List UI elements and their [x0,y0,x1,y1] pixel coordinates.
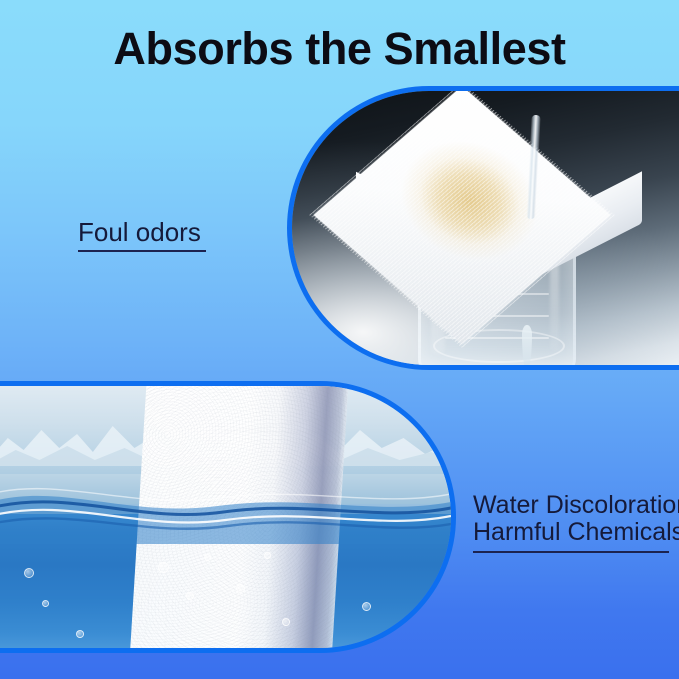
page-title: Absorbs the Smallest [0,24,679,74]
water-surface-waves [0,472,451,544]
bubble [186,592,194,600]
bubble [204,554,211,561]
photo-backdrop-water-scene [0,386,451,648]
filter-pad-block [326,117,652,293]
bubble [362,602,371,611]
filter-pad-pouring-photo-panel [287,86,679,370]
callout-water-discoloration: Water Discoloration Harmful Chemicals [473,492,679,553]
bubble [42,600,49,607]
callout-foul-odors: Foul odors [78,218,206,252]
bubble [264,552,271,559]
drip-droplet [521,367,535,370]
bubble [236,584,245,593]
callout-foul-odors-line-1: Foul odors [78,217,201,247]
callout-water-line-1: Water Discoloration [473,492,679,519]
callout-underline [473,551,669,553]
callout-underline [78,250,206,252]
bubble [24,568,34,578]
bubble [158,562,169,573]
bubble [282,618,290,626]
product-feature-card: Absorbs the Smallest [0,0,679,679]
photo-backdrop-dark-gradient [292,91,679,365]
callout-water-line-2: Harmful Chemicals [473,519,679,546]
filter-pad-water-photo-panel [0,381,456,653]
bubble [76,630,84,638]
